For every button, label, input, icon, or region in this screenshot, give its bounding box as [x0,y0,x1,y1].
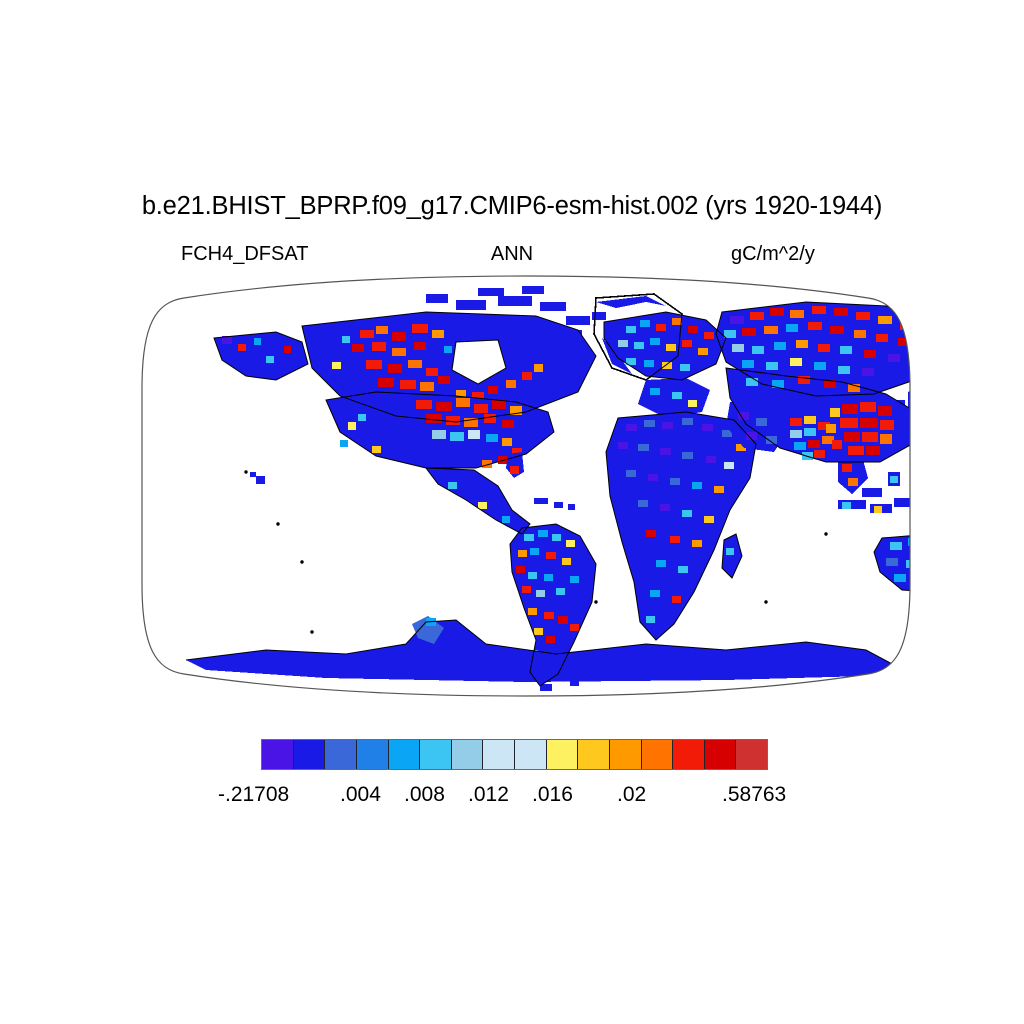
colorbar-label-2: .008 [404,782,445,808]
colorbar-cell-2 [294,740,326,769]
season-label: ANN [0,243,1024,265]
ncl-map-figure: b.e21.BHIST_BPRP.f09_g17.CMIP6-esm-hist.… [0,0,1024,1024]
colorbar-cell-5 [389,740,421,769]
colorbar-cell-4 [357,740,389,769]
colorbar-cell-10 [547,740,579,769]
colorbar-cell-13 [642,740,674,769]
colorbar-label-6: .58763 [722,782,786,808]
colorbar [261,739,768,770]
units-label: gC/m^2/y [731,243,815,265]
colorbar-cell-7 [452,740,484,769]
colorbar-cell-9 [515,740,547,769]
colorbar-label-1: .004 [340,782,381,808]
world-map-robinson [126,272,926,700]
colorbar-label-3: .012 [468,782,509,808]
colorbar-cell-16 [736,740,767,769]
colorbar-cell-3 [325,740,357,769]
colorbar-cell-14 [673,740,705,769]
colorbar-cell-15 [705,740,737,769]
colorbar-label-4: .016 [532,782,573,808]
page-title: b.e21.BHIST_BPRP.f09_g17.CMIP6-esm-hist.… [0,192,1024,220]
colorbar-cell-6 [420,740,452,769]
colorbar-label-5: .02 [617,782,646,808]
colorbar-cell-8 [483,740,515,769]
colorbar-cell-1 [262,740,294,769]
colorbar-cell-12 [610,740,642,769]
colorbar-tick-labels: -.21708.004.008.012.016.02.58763 [0,782,1024,812]
map-plot [126,272,926,700]
colorbar-cell-11 [578,740,610,769]
colorbar-label-0: -.21708 [218,782,289,808]
